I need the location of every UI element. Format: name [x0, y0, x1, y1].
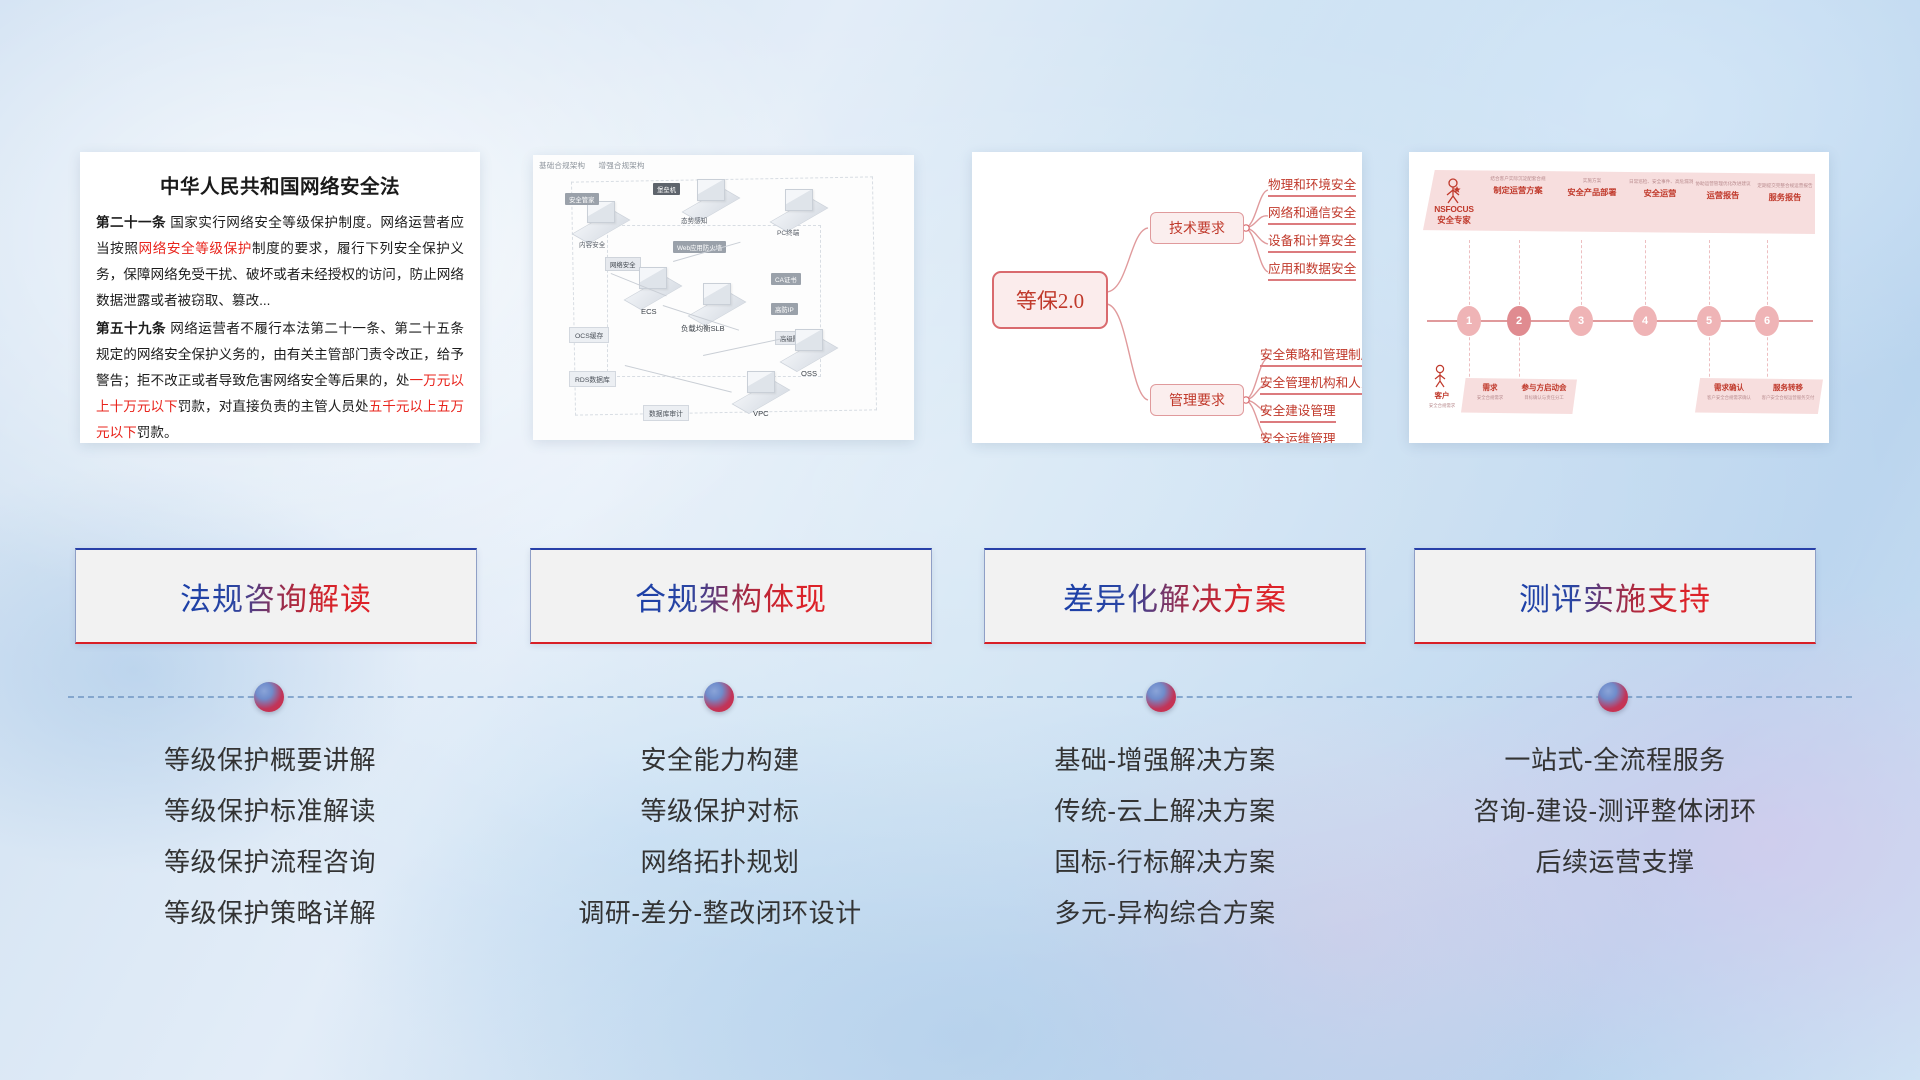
category-button-compliance-architecture[interactable]: 合规架构体现	[530, 548, 932, 644]
law-card-paragraphs: 第二十一条 国家实行网络安全等级保护制度。网络运营者应当按照网络安全等级保护制度…	[96, 210, 464, 443]
list-item: 网络拓扑规划	[510, 837, 930, 888]
timeline-tick-low-2	[1519, 332, 1521, 382]
lower-item-transfer-title: 服务转移	[1759, 382, 1817, 393]
timeline-knob-3[interactable]	[1146, 682, 1176, 712]
category-button-differentiated-solution[interactable]: 差异化解决方案	[984, 548, 1366, 644]
list-item: 传统-云上解决方案	[955, 786, 1375, 837]
lower-item-transfer: 服务转移 客户安全合规运营服务交付	[1759, 382, 1817, 401]
list-item: 多元-异构综合方案	[955, 888, 1375, 939]
lower-item-transfer-sub: 客户安全合规运营服务交付	[1759, 395, 1817, 401]
category-button-label-4: 测评实施支持	[1519, 574, 1711, 619]
band-cell-5-caption: 定期提交完整合规运营报告	[1755, 183, 1815, 189]
preview-cards-row: 中华人民共和国网络安全法 第二十一条 国家实行网络安全等级保护制度。网络运营者应…	[0, 152, 1920, 444]
category-items-row: 等级保护概要讲解 等级保护标准解读 等级保护流程咨询 等级保护策略详解 安全能力…	[0, 735, 1920, 975]
category-buttons-row: 法规咨询解读 合规架构体现 差异化解决方案 测评实施支持	[0, 548, 1920, 646]
mindmap-branch-technical: 技术要求	[1150, 212, 1244, 244]
brand-block: NSFOCUS 安全专家	[1431, 204, 1477, 226]
mindmap-leaf-mgmt-1: 安全策略和管理制度	[1260, 344, 1362, 367]
lower-item-need: 需求 安全合规需求	[1467, 382, 1513, 401]
band-cell-4-caption: 协助运营管理优化改进建议	[1693, 181, 1753, 187]
law-body-text: 罚款，对直接负责的主管人员处	[178, 399, 369, 414]
law-card-body: 中华人民共和国网络安全法 第二十一条 国家实行网络安全等级保护制度。网络运营者应…	[80, 152, 480, 443]
law-article-number: 第二十一条	[96, 215, 166, 230]
brand-subtitle: 安全专家	[1431, 214, 1477, 226]
mindmap-leaf-tech-1: 物理和环境安全	[1268, 174, 1356, 197]
timeline-step-2: 2	[1507, 306, 1531, 336]
brand-name: NSFOCUS	[1431, 204, 1477, 214]
arch-header-basic: 基础合规架构	[539, 161, 585, 170]
band-cell-3-caption: 日常巡检、安全事件、高危漏洞	[1629, 179, 1691, 185]
band-cell-3: 日常巡检、安全事件、高危漏洞 安全运营	[1629, 179, 1691, 199]
customer-icon-svg	[1431, 364, 1449, 388]
arch-label-situation: 态势感知	[681, 215, 707, 225]
timeline-tick-low-6	[1767, 332, 1769, 382]
band-cell-1-caption: 结合客户实际沉淀配套合规	[1481, 176, 1555, 182]
arch-label-content: 内容安全	[579, 239, 605, 249]
arch-chip-ca: CA证书	[771, 273, 801, 285]
band-cell-4: 协助运营管理优化改进建议 运营报告	[1693, 181, 1753, 201]
category-button-label-1: 法规咨询解读	[180, 574, 372, 619]
lower-item-confirm-sub: 客户安全合规需求确认	[1701, 395, 1757, 401]
band-cell-2: 实施方案 安全产品部署	[1557, 178, 1627, 198]
mindmap-leaf-tech-3: 设备和计算安全	[1268, 230, 1356, 253]
category-items-column-4: 一站式-全流程服务 咨询-建设-测评整体闭环 后续运营支撑	[1400, 735, 1830, 888]
list-item: 后续运营支撑	[1400, 837, 1830, 888]
list-item: 等级保护策略详解	[60, 888, 480, 939]
timeline-knob-4[interactable]	[1598, 682, 1628, 712]
arch-label-oss: OSS	[801, 369, 817, 378]
arch-block-rds: RDS数据库	[569, 371, 616, 387]
timeline-tick-2	[1519, 240, 1521, 310]
mindmap-root-node: 等保2.0	[992, 271, 1108, 329]
list-item: 安全能力构建	[510, 735, 930, 786]
category-button-assessment-support[interactable]: 测评实施支持	[1414, 548, 1816, 644]
arch-label-slb: 负载均衡SLB	[681, 323, 725, 334]
timeline-tick-1	[1469, 240, 1471, 310]
person-icon-svg	[1443, 178, 1463, 204]
customer-title: 客户	[1425, 390, 1459, 401]
mindmap-leaf-tech-2: 网络和通信安全	[1268, 202, 1356, 225]
list-item: 等级保护标准解读	[60, 786, 480, 837]
lower-item-kickoff: 参与方启动会 目标确认与责任分工	[1515, 382, 1573, 401]
lower-item-need-title: 需求	[1467, 382, 1513, 393]
timeline-knob-1[interactable]	[254, 682, 284, 712]
category-items-column-2: 安全能力构建 等级保护对标 网络拓扑规划 调研-差分-整改闭环设计	[510, 735, 930, 939]
timeline-canvas: NSFOCUS 安全专家 结合客户实际沉淀配套合规 制定运营方案 实施方案 安全…	[1409, 152, 1829, 443]
mindmap-leaf-mgmt-2: 安全管理机构和人员	[1260, 372, 1362, 395]
mindmap-leaf-mgmt-4: 安全运维管理	[1260, 428, 1336, 443]
band-cell-4-title: 运营报告	[1693, 189, 1753, 201]
timeline-knob-2[interactable]	[704, 682, 734, 712]
law-body-text: 罚款。	[137, 425, 178, 440]
mindmap-leaf-tech-4: 应用和数据安全	[1268, 258, 1356, 281]
lower-item-kickoff-sub: 目标确认与责任分工	[1515, 395, 1573, 401]
arch-cube-oss	[795, 329, 823, 351]
band-cell-3-title: 安全运营	[1629, 187, 1691, 199]
timeline-tick-low-5	[1709, 332, 1711, 382]
law-highlight-text: 网络安全等级保护	[139, 241, 252, 256]
arch-cube-b	[785, 189, 813, 211]
timeline-dashed-line	[68, 696, 1852, 698]
law-card-title: 中华人民共和国网络安全法	[96, 170, 464, 199]
category-button-label-2: 合规架构体现	[635, 574, 827, 619]
list-item: 等级保护对标	[510, 786, 930, 837]
customer-sub: 安全合规需求	[1425, 403, 1459, 409]
arch-block-ocs: OCS缓存	[569, 327, 609, 343]
arch-chip-shield: 堡垒机	[653, 183, 680, 195]
arch-chip-security-steward: 安全管家	[565, 193, 599, 205]
service-timeline-card[interactable]: NSFOCUS 安全专家 结合客户实际沉淀配套合规 制定运营方案 实施方案 安全…	[1409, 152, 1829, 443]
timeline-step-1: 1	[1457, 306, 1481, 336]
arch-chip-bastion: 网络安全	[605, 257, 641, 271]
category-items-column-3: 基础-增强解决方案 传统-云上解决方案 国标-行标解决方案 多元-异构综合方案	[955, 735, 1375, 939]
mindmap-leaf-mgmt-3: 安全建设管理	[1260, 400, 1336, 423]
band-cell-5-title: 服务报告	[1755, 191, 1815, 203]
customer-label-block: 客户 安全合规需求	[1425, 390, 1459, 409]
list-item: 国标-行标解决方案	[955, 837, 1375, 888]
list-item: 等级保护概要讲解	[60, 735, 480, 786]
mindmap-canvas: 等保2.0 技术要求 管理要求 物理和环境安全 网络和通信安全 设备和计算安全 …	[972, 152, 1362, 443]
category-button-regulation-consulting[interactable]: 法规咨询解读	[75, 548, 477, 644]
architecture-canvas: 基础合规架构 增强合规架构 堡垒机 态势感知 PC终端 内容安全 安全管家 网络…	[533, 155, 914, 440]
customer-person-icon	[1431, 364, 1449, 393]
timeline-step-5: 5	[1697, 306, 1721, 336]
arch-block-dbaudit: 数据库审计	[643, 405, 689, 421]
list-item: 基础-增强解决方案	[955, 735, 1375, 786]
law-text-card[interactable]: 中华人民共和国网络安全法 第二十一条 国家实行网络安全等级保护制度。网络运营者应…	[80, 152, 480, 443]
timeline-tick-low-1	[1469, 332, 1471, 382]
arch-label-pc: PC终端	[777, 227, 799, 237]
lower-item-confirm: 需求确认 客户安全合规需求确认	[1701, 382, 1757, 401]
timeline-connector-row	[0, 660, 1920, 720]
timeline-step-4: 4	[1633, 306, 1657, 336]
lower-item-confirm-title: 需求确认	[1701, 382, 1757, 393]
law-paragraph: 第二十一条 国家实行网络安全等级保护制度。网络运营者应当按照网络安全等级保护制度…	[96, 210, 464, 314]
arch-cube-vpc	[747, 371, 775, 393]
law-article-number: 第五十九条	[96, 321, 166, 336]
timeline-step-6: 6	[1755, 306, 1779, 336]
list-item: 一站式-全流程服务	[1400, 735, 1830, 786]
list-item: 调研-差分-整改闭环设计	[510, 888, 930, 939]
law-paragraph: 第五十九条 网络运营者不履行本法第二十一条、第二十五条规定的网络安全保护义务的，…	[96, 316, 464, 443]
arch-chip-highdefense: 高防IP	[771, 303, 798, 315]
category-items-column-1: 等级保护概要讲解 等级保护标准解读 等级保护流程咨询 等级保护策略详解	[60, 735, 480, 939]
arch-cube-a	[697, 179, 725, 201]
lower-item-kickoff-title: 参与方启动会	[1515, 382, 1573, 393]
timeline-tick-3	[1581, 240, 1583, 310]
list-item: 咨询-建设-测评整体闭环	[1400, 786, 1830, 837]
band-cell-5: 定期提交完整合规运营报告 服务报告	[1755, 183, 1815, 203]
architecture-diagram-card[interactable]: 基础合规架构 增强合规架构 堡垒机 态势感知 PC终端 内容安全 安全管家 网络…	[533, 155, 914, 440]
timeline-tick-5	[1709, 240, 1711, 310]
architecture-header-labels: 基础合规架构 增强合规架构	[539, 160, 656, 171]
arch-label-vpc: VPC	[753, 409, 769, 418]
arch-cube-slb	[703, 283, 731, 305]
mindmap-card[interactable]: 等保2.0 技术要求 管理要求 物理和环境安全 网络和通信安全 设备和计算安全 …	[972, 152, 1362, 443]
list-item: 等级保护流程咨询	[60, 837, 480, 888]
lower-item-need-sub: 安全合规需求	[1467, 395, 1513, 401]
arch-header-enhanced: 增强合规架构	[599, 161, 645, 170]
arch-label-ecs: ECS	[641, 307, 657, 316]
band-cell-2-caption: 实施方案	[1557, 178, 1627, 184]
timeline-tick-4	[1645, 240, 1647, 310]
category-button-label-3: 差异化解决方案	[1063, 574, 1287, 619]
mindmap-branch-management: 管理要求	[1150, 384, 1244, 416]
timeline-step-3: 3	[1569, 306, 1593, 336]
band-cell-1-title: 制定运营方案	[1481, 184, 1555, 196]
band-cell-1: 结合客户实际沉淀配套合规 制定运营方案	[1481, 176, 1555, 196]
timeline-tick-6	[1767, 240, 1769, 310]
band-cell-2-title: 安全产品部署	[1557, 186, 1627, 198]
